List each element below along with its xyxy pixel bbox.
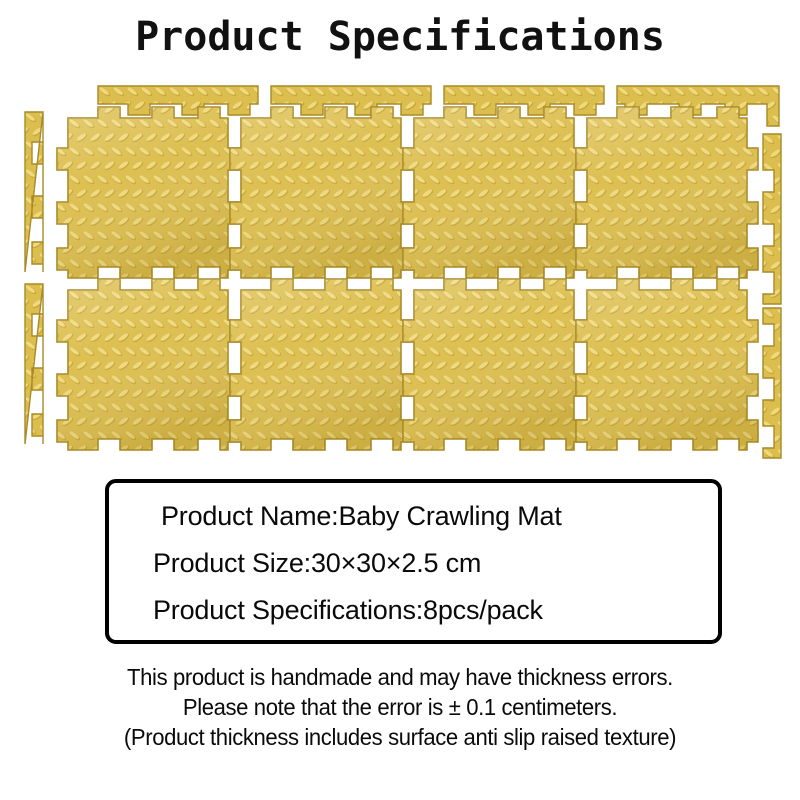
mat-tile <box>57 279 239 450</box>
spec-line-product-specifications: Product Specifications:8pcs/pack <box>109 587 718 634</box>
disclaimer-line-3: (Product thickness includes surface anti… <box>16 722 784 752</box>
mat-tile <box>576 279 758 450</box>
spec-line-product-size: Product Size:30×30×2.5 cm <box>109 540 718 587</box>
mat-tile <box>230 279 412 450</box>
mat-tile <box>57 107 239 278</box>
page-title: Product Specifications <box>0 14 800 60</box>
disclaimer-text: This product is handmade and may have th… <box>0 662 800 752</box>
spec-line-product-name: Product Name:Baby Crawling Mat <box>109 493 718 540</box>
product-image <box>18 72 790 472</box>
specification-box: Product Name:Baby Crawling Mat Product S… <box>105 479 722 644</box>
mat-tile <box>403 279 585 450</box>
mat-tile <box>403 107 585 278</box>
mat-left-border-strips <box>25 112 43 444</box>
mat-right-border-strips <box>763 134 781 458</box>
disclaimer-line-1: This product is handmade and may have th… <box>16 662 784 692</box>
disclaimer-line-2: Please note that the error is ± 0.1 cent… <box>16 692 784 722</box>
mat-tile <box>576 107 758 278</box>
foam-mat-illustration <box>18 72 790 472</box>
mat-tile <box>230 107 412 278</box>
